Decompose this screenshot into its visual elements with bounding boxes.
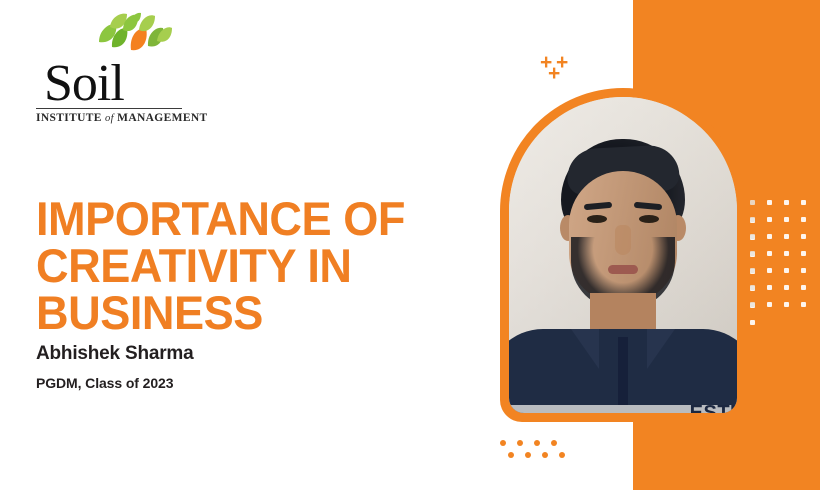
author-name: Abhishek Sharma (36, 343, 194, 365)
page-title: IMPORTANCE OF CREATIVITY IN BUSINESS (36, 195, 439, 336)
title-line-2: CREATIVITY IN (36, 242, 439, 289)
dot-grid-decoration (750, 200, 820, 319)
shirt-placket (618, 337, 628, 413)
plus-cluster-decoration: + + + (540, 52, 582, 82)
dot-grid-row (750, 200, 820, 217)
title-line-3: BUSINESS (36, 289, 439, 336)
logo-wordmark: Soil (44, 58, 124, 110)
dot-grid-row (750, 217, 820, 234)
dot-rows-decoration (500, 440, 576, 464)
subject-shirt: ESTD (509, 329, 737, 413)
dot-grid-row (750, 234, 820, 251)
shirt-collar-right (647, 329, 675, 369)
dot-grid-row (750, 251, 820, 268)
logo-tagline: INSTITUTE of MANAGEMENT (36, 112, 182, 124)
subject-eye-right (639, 215, 659, 223)
subject-lips (608, 265, 638, 274)
subject-eye-left (587, 215, 607, 223)
tagline-management: MANAGEMENT (117, 112, 207, 124)
portrait-photo: ESTD (509, 97, 737, 413)
dot-row (500, 440, 576, 452)
shirt-collar-left (571, 329, 599, 369)
tagline-institute: INSTITUTE (36, 112, 102, 124)
logo-divider (36, 108, 182, 109)
tagline-of: of (105, 113, 114, 124)
shirt-estd-text: ESTD (690, 403, 737, 413)
soil-logo[interactable]: Soil INSTITUTE of MANAGEMENT (34, 12, 184, 124)
author-credential: PGDM, Class of 2023 (36, 375, 173, 391)
plus-icon: + (548, 63, 560, 84)
dot-row (508, 452, 576, 464)
title-line-1: IMPORTANCE OF (36, 195, 439, 242)
dot-grid-row (750, 268, 820, 285)
dot-grid-row (750, 302, 820, 319)
dot-grid-row (750, 285, 820, 302)
portrait-frame: ESTD (500, 88, 746, 422)
poster-canvas: Soil INSTITUTE of MANAGEMENT IMPORTANCE … (0, 0, 820, 490)
